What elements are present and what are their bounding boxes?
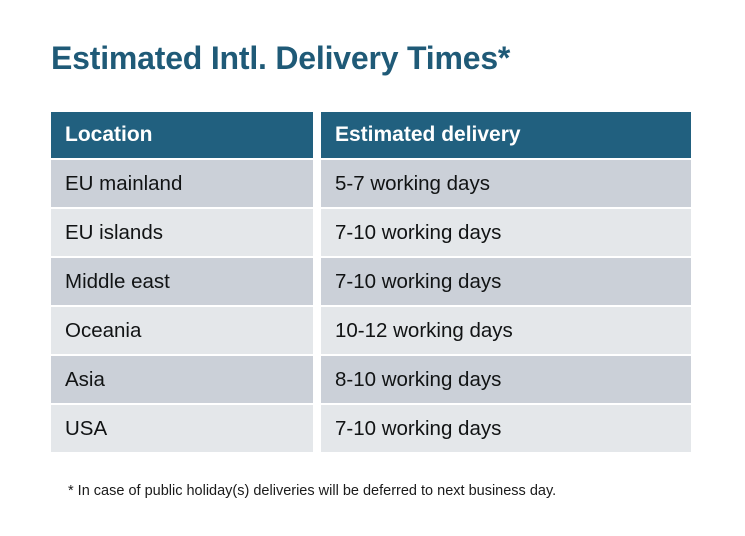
footnote-text: * In case of public holiday(s) deliverie… — [68, 481, 556, 501]
table-row: Asia 8-10 working days — [51, 356, 691, 403]
cell-estimated-delivery: 7-10 working days — [321, 209, 691, 256]
cell-estimated-delivery: 8-10 working days — [321, 356, 691, 403]
cell-estimated-delivery: 7-10 working days — [321, 258, 691, 305]
cell-location: Middle east — [51, 258, 313, 305]
cell-estimated-delivery: 10-12 working days — [321, 307, 691, 354]
cell-location: USA — [51, 405, 313, 452]
table-row: Middle east 7-10 working days — [51, 258, 691, 305]
cell-location: EU islands — [51, 209, 313, 256]
column-header-location: Location — [51, 112, 313, 158]
cell-estimated-delivery: 7-10 working days — [321, 405, 691, 452]
column-header-estimated-delivery: Estimated delivery — [321, 112, 691, 158]
cell-estimated-delivery: 5-7 working days — [321, 160, 691, 207]
cell-location: Asia — [51, 356, 313, 403]
delivery-times-table: Location Estimated delivery EU mainland … — [51, 112, 691, 454]
cell-location: Oceania — [51, 307, 313, 354]
table-header-row: Location Estimated delivery — [51, 112, 691, 158]
table-row: Oceania 10-12 working days — [51, 307, 691, 354]
table-row: EU islands 7-10 working days — [51, 209, 691, 256]
cell-location: EU mainland — [51, 160, 313, 207]
table-row: EU mainland 5-7 working days — [51, 160, 691, 207]
page-title: Estimated Intl. Delivery Times* — [51, 38, 510, 78]
delivery-times-page: Estimated Intl. Delivery Times* Location… — [0, 0, 745, 536]
table-row: USA 7-10 working days — [51, 405, 691, 452]
